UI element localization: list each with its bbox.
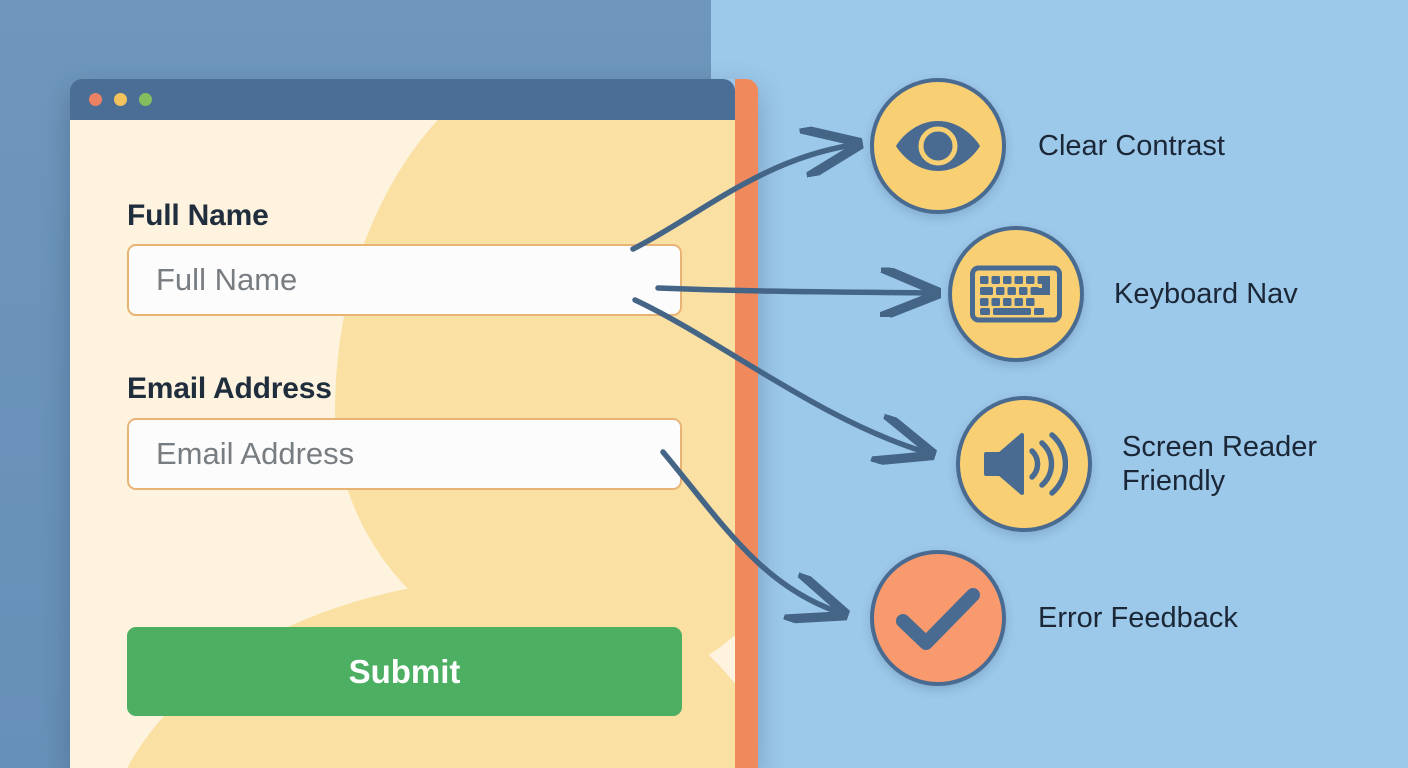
close-dot[interactable] [89,93,102,106]
email-address-label: Email Address [127,372,332,406]
browser-window-card: Full Name Full Name Email Address Email … [70,79,758,768]
eye-icon-glyph [895,117,981,175]
feature-label-clear-contrast: Clear Contrast [1038,129,1225,163]
full-name-input[interactable]: Full Name [127,244,682,316]
maximize-dot[interactable] [139,93,152,106]
screenshot-root: Full Name Full Name Email Address Email … [0,0,1408,768]
feature-label-error-feedback: Error Feedback [1038,601,1238,635]
card-orange-accent-edge [735,79,758,768]
check-icon-glyph [895,583,981,653]
email-address-placeholder: Email Address [156,436,354,472]
window-titlebar [70,79,735,120]
eye-icon [870,78,1006,214]
keyboard-icon [948,226,1084,362]
window-content: Full Name Full Name Email Address Email … [70,120,735,768]
minimize-dot[interactable] [114,93,127,106]
full-name-label: Full Name [127,199,269,233]
traffic-light-dots [89,93,152,106]
speaker-icon [956,396,1092,532]
keyboard-icon-glyph [970,261,1062,327]
submit-button[interactable]: Submit [127,627,682,716]
signup-form: Full Name Full Name Email Address Email … [70,120,735,768]
feature-keyboard-nav[interactable]: Keyboard Nav [948,226,1298,362]
feature-label-screen-reader: Screen Reader Friendly [1122,430,1317,498]
full-name-placeholder: Full Name [156,262,297,298]
feature-clear-contrast[interactable]: Clear Contrast [870,78,1225,214]
feature-screen-reader[interactable]: Screen Reader Friendly [956,396,1317,532]
check-icon [870,550,1006,686]
feature-error-feedback[interactable]: Error Feedback [870,550,1238,686]
feature-label-keyboard-nav: Keyboard Nav [1114,277,1298,311]
speaker-icon-glyph [980,429,1068,499]
email-address-input[interactable]: Email Address [127,418,682,490]
